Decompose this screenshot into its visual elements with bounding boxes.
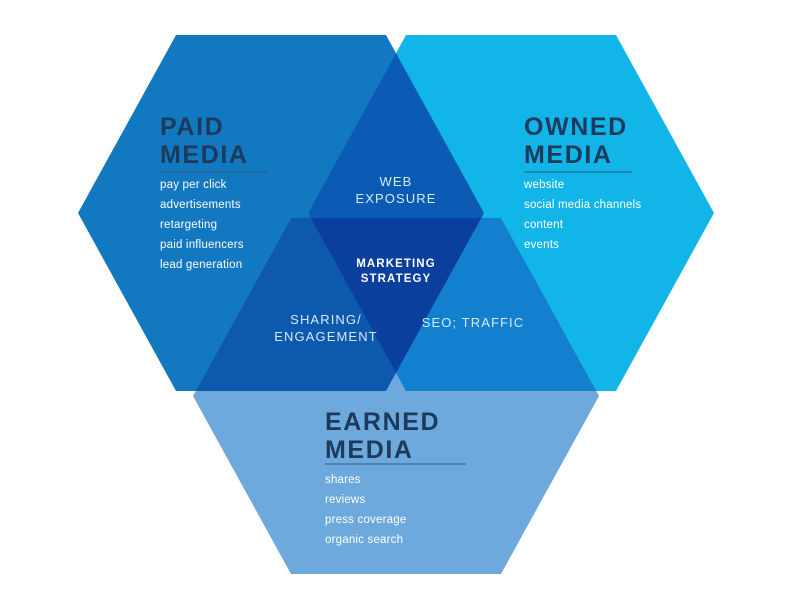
center-label-line2: STRATEGY — [361, 273, 432, 285]
overlap-owned-earned-label: SEO; TRAFFIC — [422, 315, 525, 330]
paid-media-item-3: paid influencers — [160, 239, 244, 251]
owned-media-item-1: social media channels — [524, 199, 641, 211]
owned-media-title-line1: OWNED — [524, 113, 628, 141]
paid-media-item-4: lead generation — [160, 259, 242, 271]
paid-media-title-line1: PAID — [160, 113, 224, 141]
paid-media-item-1: advertisements — [160, 199, 241, 211]
earned-media-title-line2: MEDIA — [325, 436, 414, 464]
paid-media-item-2: retargeting — [160, 219, 217, 231]
earned-media-item-2: press coverage — [325, 514, 406, 526]
owned-media-title-line2: MEDIA — [524, 141, 613, 169]
earned-media-title-line1: EARNED — [325, 408, 440, 436]
paid-media-item-0: pay per click — [160, 179, 227, 191]
overlap-paid-earned-line2: ENGAGEMENT — [274, 329, 377, 344]
center-label-line1: MARKETING — [356, 258, 436, 270]
marketing-media-venn-diagram: PAID MEDIA pay per click advertisements … — [0, 0, 792, 613]
earned-media-item-0: shares — [325, 474, 361, 486]
venn-diagram-canvas: PAID MEDIA pay per click advertisements … — [0, 0, 792, 613]
owned-media-item-3: events — [524, 239, 559, 251]
owned-media-item-0: website — [523, 179, 564, 191]
overlap-paid-owned-line1: WEB — [380, 174, 413, 189]
overlap-owned-earned-line1: SEO; TRAFFIC — [422, 315, 525, 330]
paid-media-title-line2: MEDIA — [160, 141, 249, 169]
overlap-paid-owned-line2: EXPOSURE — [355, 191, 436, 206]
owned-media-item-2: content — [524, 219, 564, 231]
overlap-paid-earned-line1: SHARING/ — [290, 312, 362, 327]
earned-media-item-1: reviews — [325, 494, 365, 506]
earned-media-item-3: organic search — [325, 534, 403, 546]
